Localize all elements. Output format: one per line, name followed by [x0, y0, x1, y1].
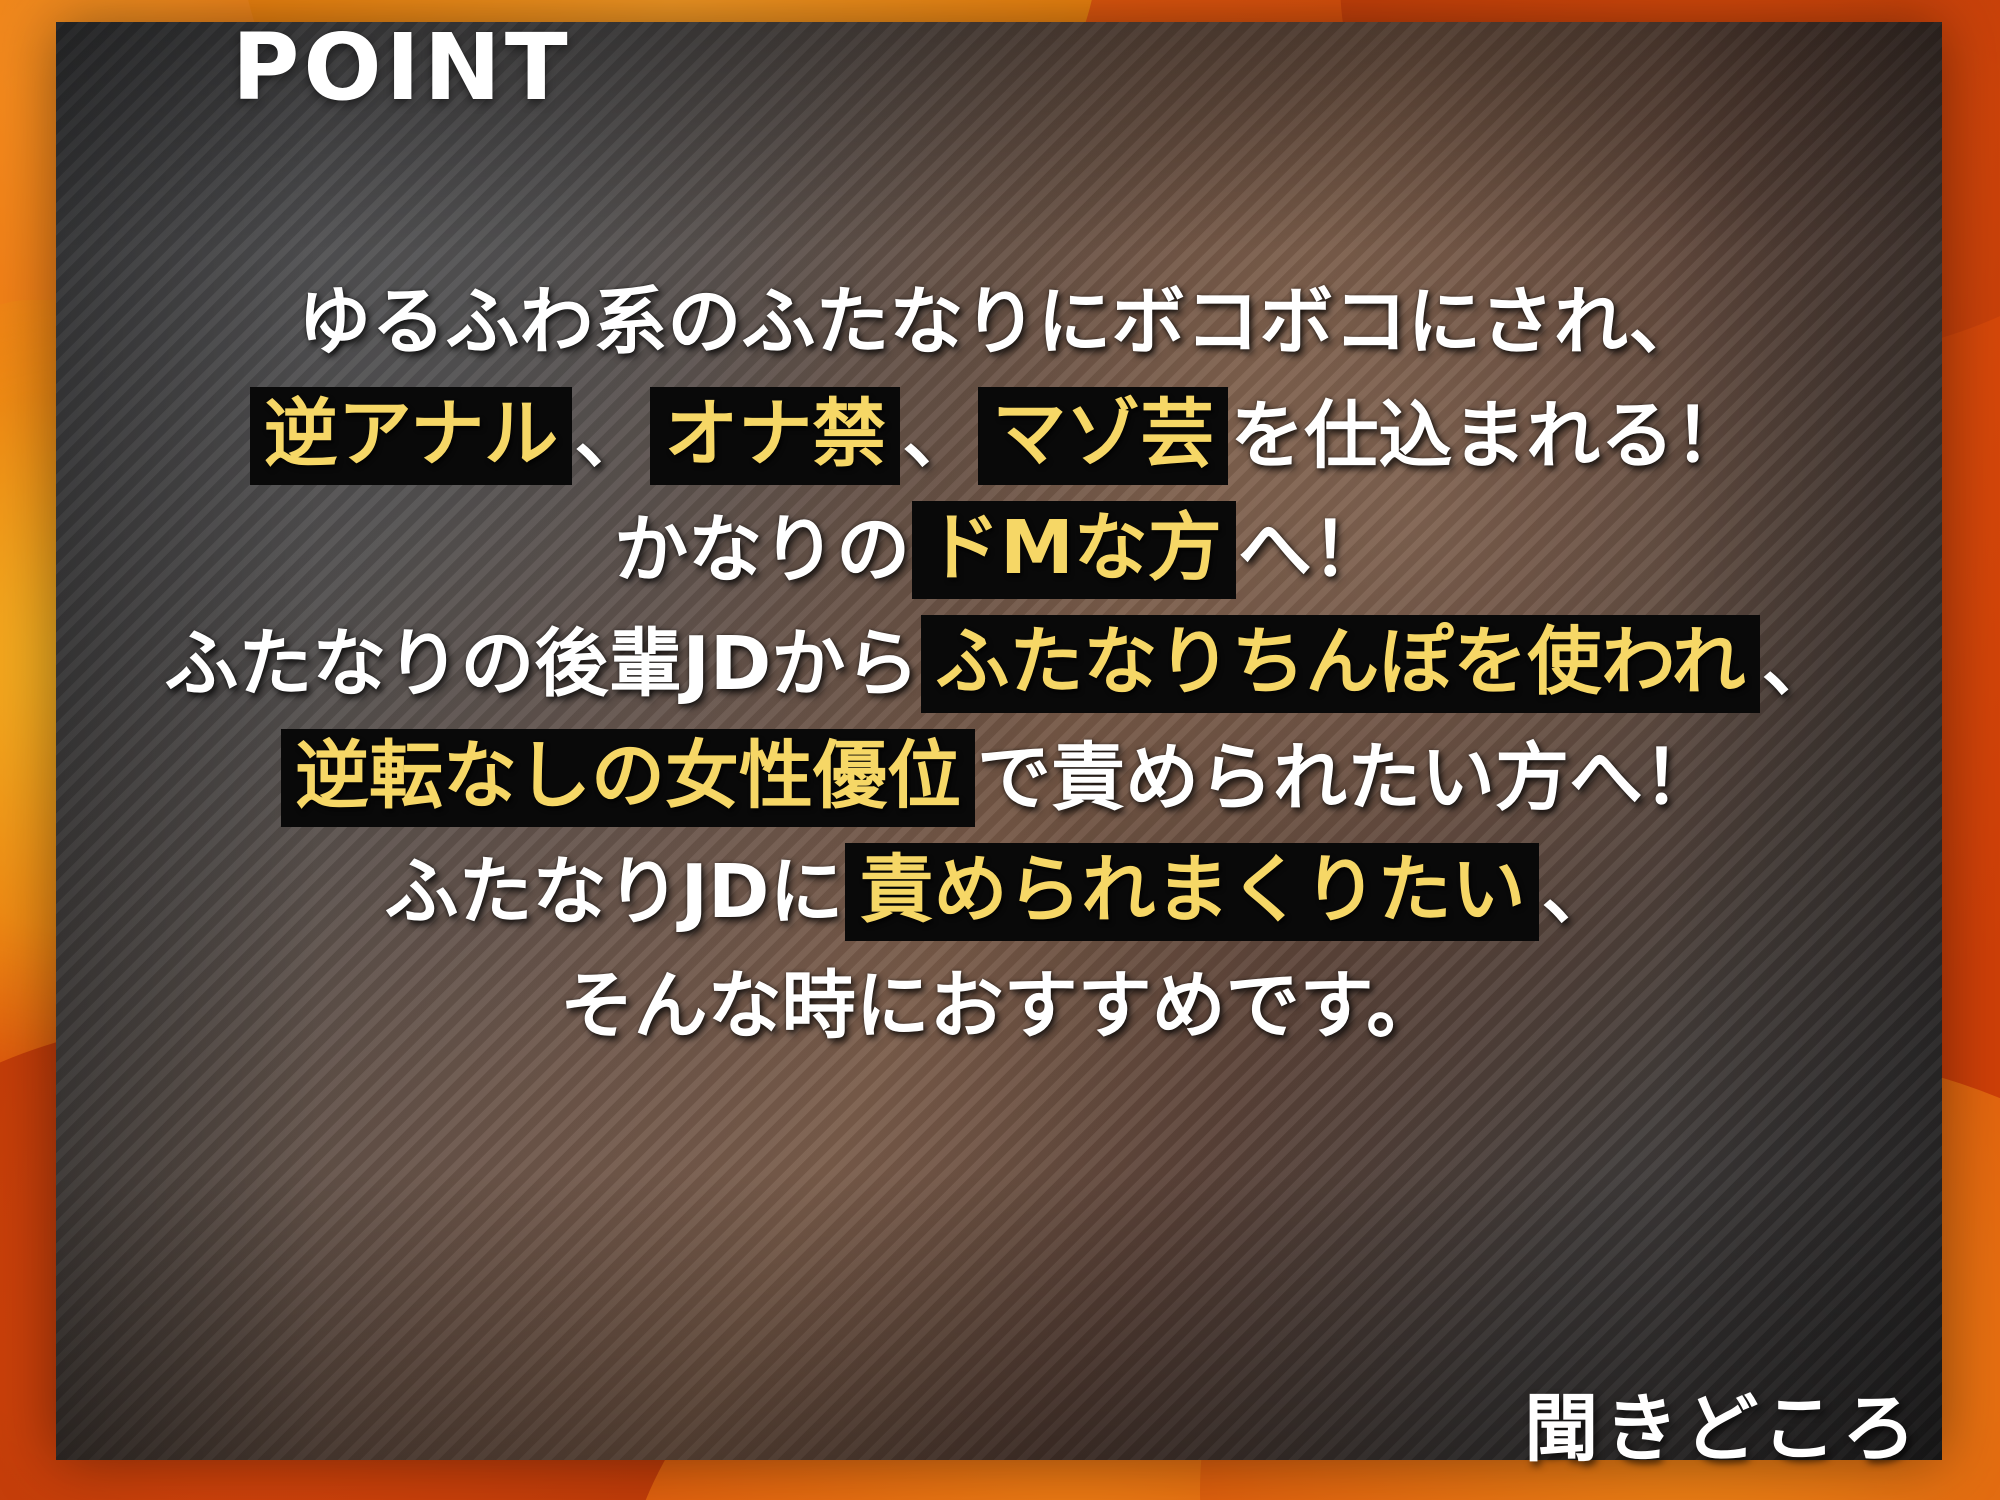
- point-text-plain: へ！: [1236, 511, 1388, 589]
- point-text-highlight: マゾ芸: [978, 387, 1228, 485]
- footer-badge: 聞きどころ: [1524, 1369, 1922, 1476]
- point-text-plain: ふたなりの後輩JDから: [162, 625, 921, 703]
- point-text-plain: 、: [900, 397, 978, 475]
- point-line: そんな時におすすめです。: [558, 952, 1443, 1060]
- point-text-plain: で責められたい方へ！: [975, 739, 1719, 817]
- point-text-highlight: 逆転なしの女性優位: [281, 729, 975, 827]
- point-text-highlight: 逆アナル: [250, 387, 573, 485]
- point-line: ふたなりの後輩JDから ふたなりちんぽを使われ 、: [162, 610, 1837, 718]
- point-text-highlight: ふたなりちんぽを使われ: [921, 615, 1759, 713]
- point-text-block: ゆるふわ系のふたなりにボコボコにされ、 逆アナル 、 オナ禁 、 マゾ芸 を仕込…: [0, 268, 2000, 1060]
- point-text-highlight: ドMな方: [912, 501, 1236, 599]
- point-text-plain: ふたなりJDに: [383, 853, 846, 931]
- point-text-plain: 、: [1539, 853, 1617, 931]
- page-title: POINT: [232, 14, 572, 121]
- point-text-plain: 、: [1760, 625, 1838, 703]
- point-text-highlight: 責められまくりたい: [845, 843, 1539, 941]
- slide-canvas: POINT ゆるふわ系のふたなりにボコボコにされ、 逆アナル 、 オナ禁 、 マ…: [0, 0, 2000, 1500]
- point-text-plain: ゆるふわ系のふたなりにボコボコにされ、: [295, 283, 1704, 361]
- point-line: ふたなりJDに 責められまくりたい 、: [383, 838, 1618, 946]
- point-text-plain: 、: [572, 397, 650, 475]
- point-line: ゆるふわ系のふたなりにボコボコにされ、: [295, 268, 1704, 376]
- point-text-plain: かなりの: [612, 511, 912, 589]
- point-text-plain: そんな時におすすめです。: [558, 967, 1443, 1045]
- point-line: 逆転なしの女性優位 で責められたい方へ！: [281, 724, 1719, 832]
- point-line: かなりの ドMな方 へ！: [612, 496, 1388, 604]
- point-text-plain: を仕込まれる！: [1228, 397, 1750, 475]
- point-text-highlight: オナ禁: [650, 387, 900, 485]
- point-line: 逆アナル 、 オナ禁 、 マゾ芸 を仕込まれる！: [250, 382, 1751, 490]
